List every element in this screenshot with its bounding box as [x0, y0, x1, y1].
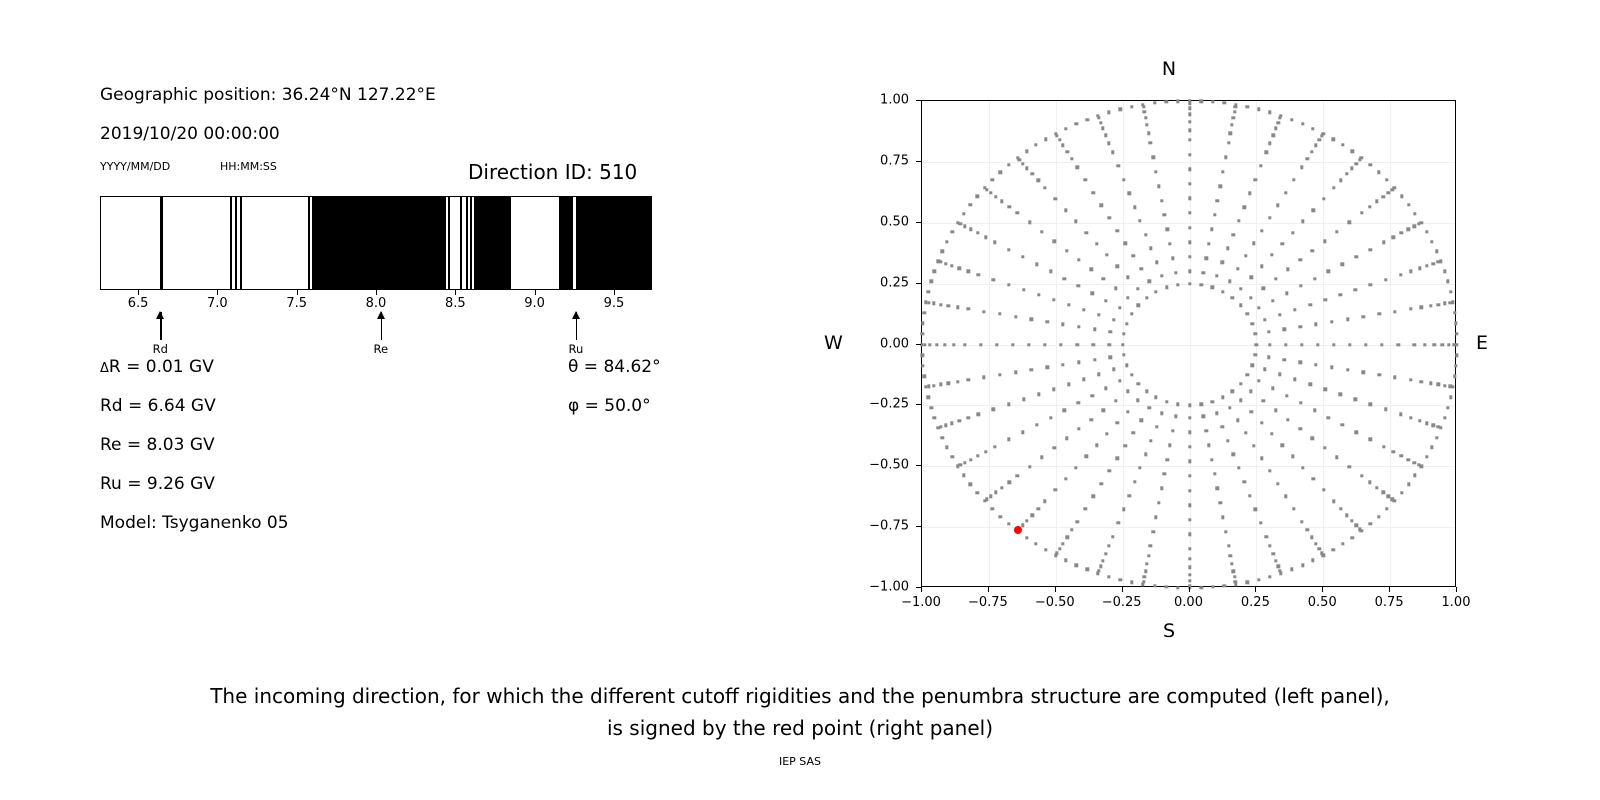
direction-dot — [1077, 325, 1080, 328]
y-axis-tick — [916, 526, 921, 527]
direction-dot — [1188, 255, 1191, 258]
direction-dot — [1454, 364, 1457, 367]
direction-dot — [1118, 379, 1121, 382]
direction-dot — [1251, 322, 1254, 325]
direction-dot — [1095, 242, 1098, 245]
direction-dot — [1016, 474, 1019, 477]
direction-dot — [1285, 394, 1288, 397]
direction-dot — [1263, 368, 1266, 371]
direction-dot — [1243, 480, 1246, 483]
direction-dot — [1354, 398, 1357, 401]
direction-dot — [1143, 110, 1146, 113]
direction-dot — [1451, 385, 1454, 388]
direction-dot — [1165, 286, 1168, 289]
direction-dot — [1074, 220, 1077, 223]
direction-dot — [1107, 544, 1110, 547]
direction-dot — [1311, 437, 1314, 440]
direction-dot — [1229, 132, 1232, 135]
direction-dot — [992, 408, 995, 411]
direction-dot — [1104, 133, 1107, 136]
direction-dot — [1262, 286, 1265, 289]
direction-dot — [967, 416, 970, 419]
direction-dot — [1077, 401, 1080, 404]
direction-dot — [1332, 137, 1335, 140]
direction-dot — [998, 312, 1001, 315]
direction-dot — [1345, 513, 1348, 516]
direction-dot — [1243, 206, 1246, 209]
direction-dot — [1443, 416, 1446, 419]
direction-dot — [1308, 383, 1311, 386]
direction-dot — [1392, 236, 1395, 239]
direction-dot — [1163, 472, 1166, 475]
caption-line-2: is signed by the red point (right panel) — [0, 712, 1600, 744]
sky-map-plot — [921, 100, 1456, 587]
direction-dot — [1207, 444, 1210, 447]
direction-dot — [1137, 382, 1140, 385]
x-axis-tick-label: −0.50 — [1035, 595, 1075, 610]
direction-dot — [939, 383, 942, 386]
direction-dot — [1205, 429, 1208, 432]
rigidity-axis: 6.57.07.58.08.59.09.5RdReRu — [100, 290, 652, 350]
direction-dot — [1126, 296, 1129, 299]
direction-dot — [1149, 247, 1152, 250]
direction-dot — [1311, 559, 1314, 562]
direction-dot — [1310, 150, 1313, 153]
direction-dot — [1423, 343, 1426, 346]
direction-dot — [1234, 583, 1237, 586]
direction-dot — [1027, 343, 1030, 346]
direction-dot — [1108, 343, 1111, 346]
direction-dot — [1099, 121, 1102, 124]
direction-dot — [951, 455, 954, 458]
direction-dot — [1114, 286, 1117, 289]
direction-dot — [1160, 274, 1163, 277]
rigidity-tick-label: 9.0 — [524, 296, 545, 311]
direction-dot — [1096, 114, 1099, 117]
direction-dot — [933, 270, 936, 273]
direction-dot — [1093, 328, 1096, 331]
direction-dot — [1254, 353, 1257, 356]
direction-dot — [1221, 396, 1224, 399]
direction-dot — [1300, 520, 1303, 523]
direction-dot — [1435, 436, 1438, 439]
direction-dot — [1188, 226, 1191, 229]
rigidity-tick-label: 8.0 — [366, 296, 387, 311]
direction-dot — [1368, 481, 1371, 484]
direction-dot — [1188, 282, 1191, 285]
direction-dot — [1199, 100, 1202, 103]
direction-dot — [1324, 298, 1327, 301]
direction-dot — [1021, 255, 1024, 258]
direction-dot — [1290, 118, 1293, 121]
direction-dot — [1143, 575, 1146, 578]
x-axis-tick — [1389, 587, 1390, 592]
direction-dot — [1268, 575, 1271, 578]
direction-dot — [1126, 410, 1129, 413]
direction-dot — [1145, 562, 1148, 565]
direction-dot — [1407, 203, 1410, 206]
direction-dot — [1314, 542, 1317, 545]
direction-dot — [1188, 416, 1191, 419]
direction-dot — [1413, 474, 1416, 477]
direction-dot — [929, 406, 932, 409]
direction-dot — [1443, 302, 1446, 305]
direction-dot — [1262, 399, 1265, 402]
direction-dot — [1369, 403, 1372, 406]
y-axis-tick — [916, 465, 921, 466]
direction-dot — [1028, 221, 1031, 224]
direction-dot — [1030, 368, 1033, 371]
direction-dot — [1188, 138, 1191, 141]
direction-dot — [1216, 199, 1219, 202]
direction-dot — [1074, 466, 1077, 469]
direction-dot — [1211, 585, 1214, 588]
y-axis-tick-label: 1.00 — [880, 93, 916, 108]
direction-dot — [1362, 315, 1365, 318]
param-delta-r: ΔR = 0.01 GV — [100, 357, 214, 377]
direction-dot — [1322, 197, 1325, 200]
y-axis-tick — [916, 344, 921, 345]
x-axis-tick-label: 0.75 — [1375, 595, 1404, 610]
rigidity-tick — [376, 290, 377, 295]
direction-dot — [1046, 366, 1049, 369]
direction-dot — [1030, 317, 1033, 320]
direction-dot — [1292, 507, 1295, 510]
direction-dot — [1119, 108, 1122, 111]
direction-dot — [1085, 568, 1088, 571]
direction-dot — [1330, 366, 1333, 369]
direction-dot — [1090, 394, 1093, 397]
direction-dot — [1007, 403, 1010, 406]
direction-dot — [1082, 378, 1085, 381]
direction-dot — [1043, 186, 1046, 189]
direction-dot — [1132, 431, 1135, 434]
direction-dot — [1335, 455, 1338, 458]
direction-dot — [936, 260, 939, 263]
direction-dot — [1377, 373, 1380, 376]
penumbra-forbidden-band — [240, 197, 242, 289]
direction-dot — [1248, 192, 1251, 195]
direction-dot — [1157, 501, 1160, 504]
direction-dot — [1036, 507, 1039, 510]
direction-dot — [1130, 105, 1133, 108]
direction-dot — [1147, 554, 1150, 557]
direction-dot — [1154, 290, 1157, 293]
direction-dot — [1407, 228, 1410, 231]
direction-dot — [1145, 123, 1148, 126]
direction-dot — [1281, 444, 1284, 447]
gridline-horizontal — [922, 162, 1455, 163]
direction-dot — [1276, 204, 1279, 207]
direction-dot — [1355, 430, 1358, 433]
direction-dot — [1207, 242, 1210, 245]
compass-south-label: S — [1163, 620, 1175, 642]
direction-dot — [1237, 219, 1240, 222]
direction-dot — [1277, 565, 1280, 568]
direction-dot — [1236, 267, 1239, 270]
direction-dot — [1224, 530, 1227, 533]
direction-dot — [1166, 458, 1169, 461]
direction-dot — [1022, 398, 1025, 401]
direction-dot — [1090, 292, 1093, 295]
direction-dot — [1284, 191, 1287, 194]
rigidity-tick-label: 6.5 — [128, 296, 149, 311]
direction-dot — [1061, 144, 1064, 147]
direction-dot — [1293, 378, 1296, 381]
direction-dot — [1260, 421, 1263, 424]
y-axis-tick-label: 0.00 — [880, 336, 916, 351]
direction-dot — [1176, 283, 1179, 286]
direction-dot — [1063, 409, 1066, 412]
direction-dot — [1385, 507, 1388, 510]
marker-arrow-icon — [377, 311, 385, 319]
direction-dot — [1104, 387, 1107, 390]
rigidity-tick — [297, 290, 298, 295]
direction-dot — [1249, 296, 1252, 299]
y-axis-tick — [916, 161, 921, 162]
datetime-text: 2019/10/20 00:00:00 — [100, 124, 280, 144]
direction-dot — [1301, 220, 1304, 223]
direction-dot — [1246, 373, 1249, 376]
direction-dot — [1102, 409, 1105, 412]
selected-direction-point[interactable] — [1014, 526, 1022, 534]
direction-dot — [1116, 421, 1119, 424]
direction-dot — [1188, 270, 1191, 273]
direction-dot — [1007, 283, 1010, 286]
direction-dot — [1061, 363, 1064, 366]
direction-dot — [1268, 141, 1271, 144]
direction-dot — [1270, 253, 1273, 256]
direction-dot — [1382, 445, 1385, 448]
direction-dot — [1418, 267, 1421, 270]
direction-dot — [1400, 491, 1403, 494]
direction-dot — [1387, 495, 1390, 498]
direction-dot — [976, 491, 979, 494]
direction-dot — [1053, 239, 1056, 242]
direction-dot — [958, 419, 961, 422]
direction-dot — [969, 203, 972, 206]
direction-dot — [1232, 569, 1235, 572]
direction-dot — [1132, 254, 1135, 257]
direction-dot — [1049, 270, 1052, 273]
direction-dot — [1362, 371, 1365, 374]
direction-dot — [1260, 457, 1263, 460]
x-axis-tick-label: −1.00 — [901, 595, 941, 610]
direction-dot — [1412, 343, 1415, 346]
direction-dot — [1067, 303, 1070, 306]
direction-dot — [1350, 167, 1353, 170]
direction-dot — [1381, 491, 1384, 494]
direction-dot — [1226, 247, 1229, 250]
direction-dot — [1037, 293, 1040, 296]
direction-dot — [969, 228, 972, 231]
direction-dot — [1249, 390, 1252, 393]
direction-dot — [1274, 559, 1277, 562]
direction-dot — [1322, 488, 1325, 491]
direction-dot — [1104, 552, 1107, 555]
direction-dot — [1265, 151, 1268, 154]
direction-dot — [1350, 519, 1353, 522]
direction-dot — [935, 343, 938, 346]
direction-dot — [929, 280, 932, 283]
direction-dot — [1188, 182, 1191, 185]
direction-dot — [939, 303, 942, 306]
direction-dot — [1393, 310, 1396, 313]
direction-dot — [945, 240, 948, 243]
direction-dot — [1279, 114, 1282, 117]
direction-id-text: Direction ID: 510 — [468, 160, 637, 184]
direction-dot — [1385, 178, 1388, 181]
direction-dot — [1223, 101, 1226, 104]
direction-dot — [1239, 399, 1242, 402]
direction-dot — [1313, 409, 1316, 412]
direction-dot — [1355, 255, 1358, 258]
direction-dot — [1188, 99, 1191, 102]
direction-dot — [1300, 343, 1303, 346]
direction-dot — [1127, 494, 1130, 497]
caption-line-1: The incoming direction, for which the di… — [0, 680, 1600, 712]
x-axis-tick — [988, 587, 989, 592]
direction-dot — [969, 458, 972, 461]
direction-dot — [1124, 444, 1127, 447]
direction-dot — [1392, 450, 1395, 453]
direction-dot — [1199, 403, 1202, 406]
direction-dot — [1145, 296, 1148, 299]
direction-dot — [1268, 111, 1271, 114]
direction-dot — [995, 343, 998, 346]
direction-dot — [1409, 307, 1412, 310]
direction-dot — [993, 241, 996, 244]
rigidity-tick — [614, 290, 615, 295]
direction-dot — [1248, 494, 1251, 497]
direction-dot — [963, 343, 966, 346]
direction-dot — [1164, 100, 1167, 103]
direction-dot — [982, 376, 985, 379]
direction-dot — [1188, 107, 1191, 110]
direction-dot — [1176, 100, 1179, 103]
direction-dot — [1341, 542, 1344, 545]
direction-dot — [1332, 186, 1335, 189]
direction-dot — [1300, 166, 1303, 169]
direction-dot — [1443, 270, 1446, 273]
direction-dot — [932, 302, 935, 305]
direction-dot — [1341, 262, 1344, 265]
direction-dot — [1237, 466, 1240, 469]
gridline-horizontal — [922, 345, 1455, 346]
x-axis-tick — [1122, 587, 1123, 592]
direction-dot — [1314, 323, 1317, 326]
direction-dot — [976, 454, 979, 457]
direction-dot — [1049, 416, 1052, 419]
direction-dot — [1311, 249, 1314, 252]
direction-dot — [1037, 393, 1040, 396]
direction-dot — [1323, 446, 1326, 449]
direction-dot — [1160, 411, 1163, 414]
direction-dot — [1101, 127, 1104, 130]
direction-dot — [1369, 163, 1372, 166]
direction-dot — [1218, 185, 1221, 188]
direction-dot — [1451, 301, 1454, 304]
direction-dot — [999, 515, 1002, 518]
direction-dot — [1075, 343, 1078, 346]
direction-dot — [1330, 320, 1333, 323]
direction-dot — [1232, 233, 1235, 236]
direction-dot — [1236, 419, 1239, 422]
direction-dot — [1000, 486, 1003, 489]
direction-dot — [1301, 122, 1304, 125]
direction-dot — [1439, 260, 1442, 263]
direction-dot — [1188, 241, 1191, 244]
direction-dot — [1126, 276, 1129, 279]
direction-dot — [1122, 508, 1125, 511]
direction-dot — [1268, 343, 1271, 346]
direction-dot — [984, 450, 987, 453]
direction-dot — [1014, 371, 1017, 374]
direction-dot — [1188, 518, 1191, 521]
direction-dot — [1007, 163, 1010, 166]
direction-dot — [936, 426, 939, 429]
direction-dot — [1211, 100, 1214, 103]
direction-dot — [1077, 258, 1080, 261]
compass-west-label: W — [824, 332, 843, 354]
direction-dot — [1313, 277, 1316, 280]
direction-dot — [1160, 199, 1163, 202]
penumbra-forbidden-band — [576, 197, 652, 289]
direction-dot — [1155, 425, 1158, 428]
direction-dot — [1348, 221, 1351, 224]
direction-dot — [1453, 311, 1456, 314]
direction-dot — [1221, 425, 1224, 428]
direction-dot — [1384, 278, 1387, 281]
direction-dot — [1153, 584, 1156, 587]
direction-dot — [1239, 287, 1242, 290]
geographic-position-text: Geographic position: 36.24°N 127.22°E — [100, 85, 436, 105]
direction-dot — [1099, 565, 1102, 568]
direction-dot — [1400, 195, 1403, 198]
rigidity-tick-label: 9.5 — [604, 296, 625, 311]
direction-dot — [950, 264, 953, 267]
direction-dot — [1097, 313, 1100, 316]
direction-dot — [1154, 396, 1157, 399]
direction-dot — [1285, 292, 1288, 295]
direction-dot — [1447, 343, 1450, 346]
direction-dot — [1291, 455, 1294, 458]
direction-dot — [1246, 581, 1249, 584]
direction-dot — [1138, 466, 1141, 469]
direction-dot — [1144, 453, 1147, 456]
direction-dot — [944, 262, 947, 265]
direction-dot — [952, 343, 955, 346]
direction-dot — [941, 436, 944, 439]
direction-dot — [1354, 288, 1357, 291]
direction-dot — [1000, 200, 1003, 203]
direction-dot — [963, 461, 966, 464]
x-axis-tick-label: 0.25 — [1241, 595, 1270, 610]
direction-dot — [1171, 429, 1174, 432]
direction-dot — [1284, 495, 1287, 498]
direction-dot — [1148, 406, 1151, 409]
direction-dot — [1028, 465, 1031, 468]
direction-dot — [927, 290, 930, 293]
direction-dot — [1221, 260, 1224, 263]
marker-label: Ru — [568, 342, 583, 356]
direction-dot — [1433, 343, 1436, 346]
direction-dot — [1305, 528, 1308, 531]
direction-dot — [991, 178, 994, 181]
direction-dot — [1360, 211, 1363, 214]
direction-dot — [1231, 296, 1234, 299]
marker-arrow-icon — [156, 311, 164, 319]
